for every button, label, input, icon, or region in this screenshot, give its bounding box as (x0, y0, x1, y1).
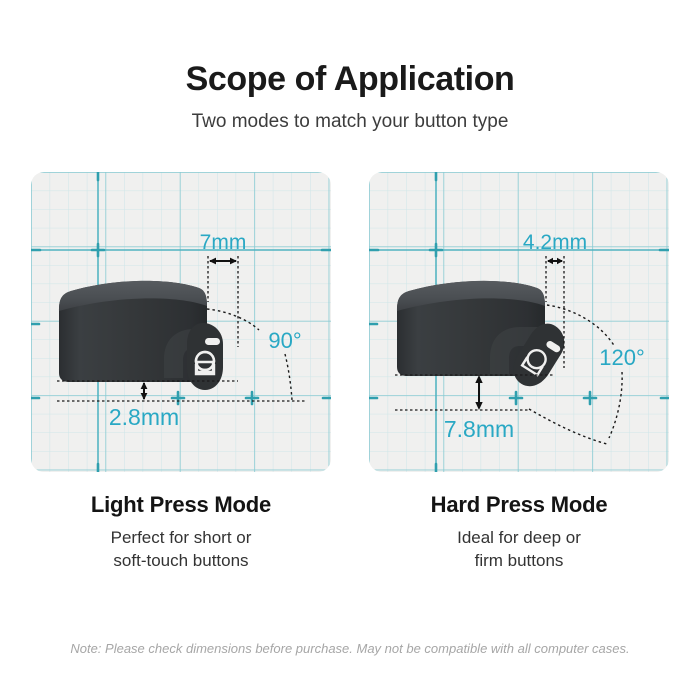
lever-notch (205, 338, 220, 345)
product-infographic-page: Scope of Application Two modes to match … (0, 0, 700, 700)
mode-desc-line-2: soft-touch buttons (111, 550, 252, 573)
header: Scope of Application Two modes to match … (0, 0, 700, 134)
width-label: 4.2mm (523, 231, 587, 254)
footer: Note: Please check dimensions before pur… (0, 640, 700, 658)
panel-hard-press: 4.2mm 7.8mm (369, 172, 669, 573)
mode-title-hard-press: Hard Press Mode (431, 492, 608, 518)
mode-title-light-press: Light Press Mode (91, 492, 271, 518)
footer-note: Note: Please check dimensions before pur… (70, 641, 629, 656)
angle-label: 90° (268, 328, 301, 353)
angle-label: 120° (599, 345, 645, 370)
mode-desc-line-1: Perfect for short or (111, 527, 252, 550)
light-press-svg: 7mm 2.8mm (31, 172, 331, 472)
height-label: 7.8mm (444, 416, 514, 442)
mode-desc-line-1: Ideal for deep or (457, 527, 581, 550)
lever-body (187, 323, 223, 390)
device-lever-arm (187, 323, 223, 390)
device-light-press (59, 281, 223, 390)
height-label: 2.8mm (109, 404, 179, 430)
hard-press-grid-background: 4.2mm 7.8mm (369, 172, 669, 472)
mode-desc-hard-press: Ideal for deep or firm buttons (457, 527, 581, 573)
diagram-hard-press: 4.2mm 7.8mm (369, 172, 669, 472)
mode-desc-light-press: Perfect for short or soft-touch buttons (111, 527, 252, 573)
page-title: Scope of Application (0, 60, 700, 99)
diagram-light-press: 7mm 2.8mm (31, 172, 331, 472)
hard-press-svg: 4.2mm 7.8mm (369, 172, 669, 472)
width-label: 7mm (200, 231, 247, 254)
mode-desc-line-2: firm buttons (457, 550, 581, 573)
mode-panels: 7mm 2.8mm (0, 172, 700, 573)
panel-light-press: 7mm 2.8mm (31, 172, 331, 573)
page-subtitle: Two modes to match your button type (0, 111, 700, 134)
light-press-grid-background: 7mm 2.8mm (31, 172, 331, 472)
